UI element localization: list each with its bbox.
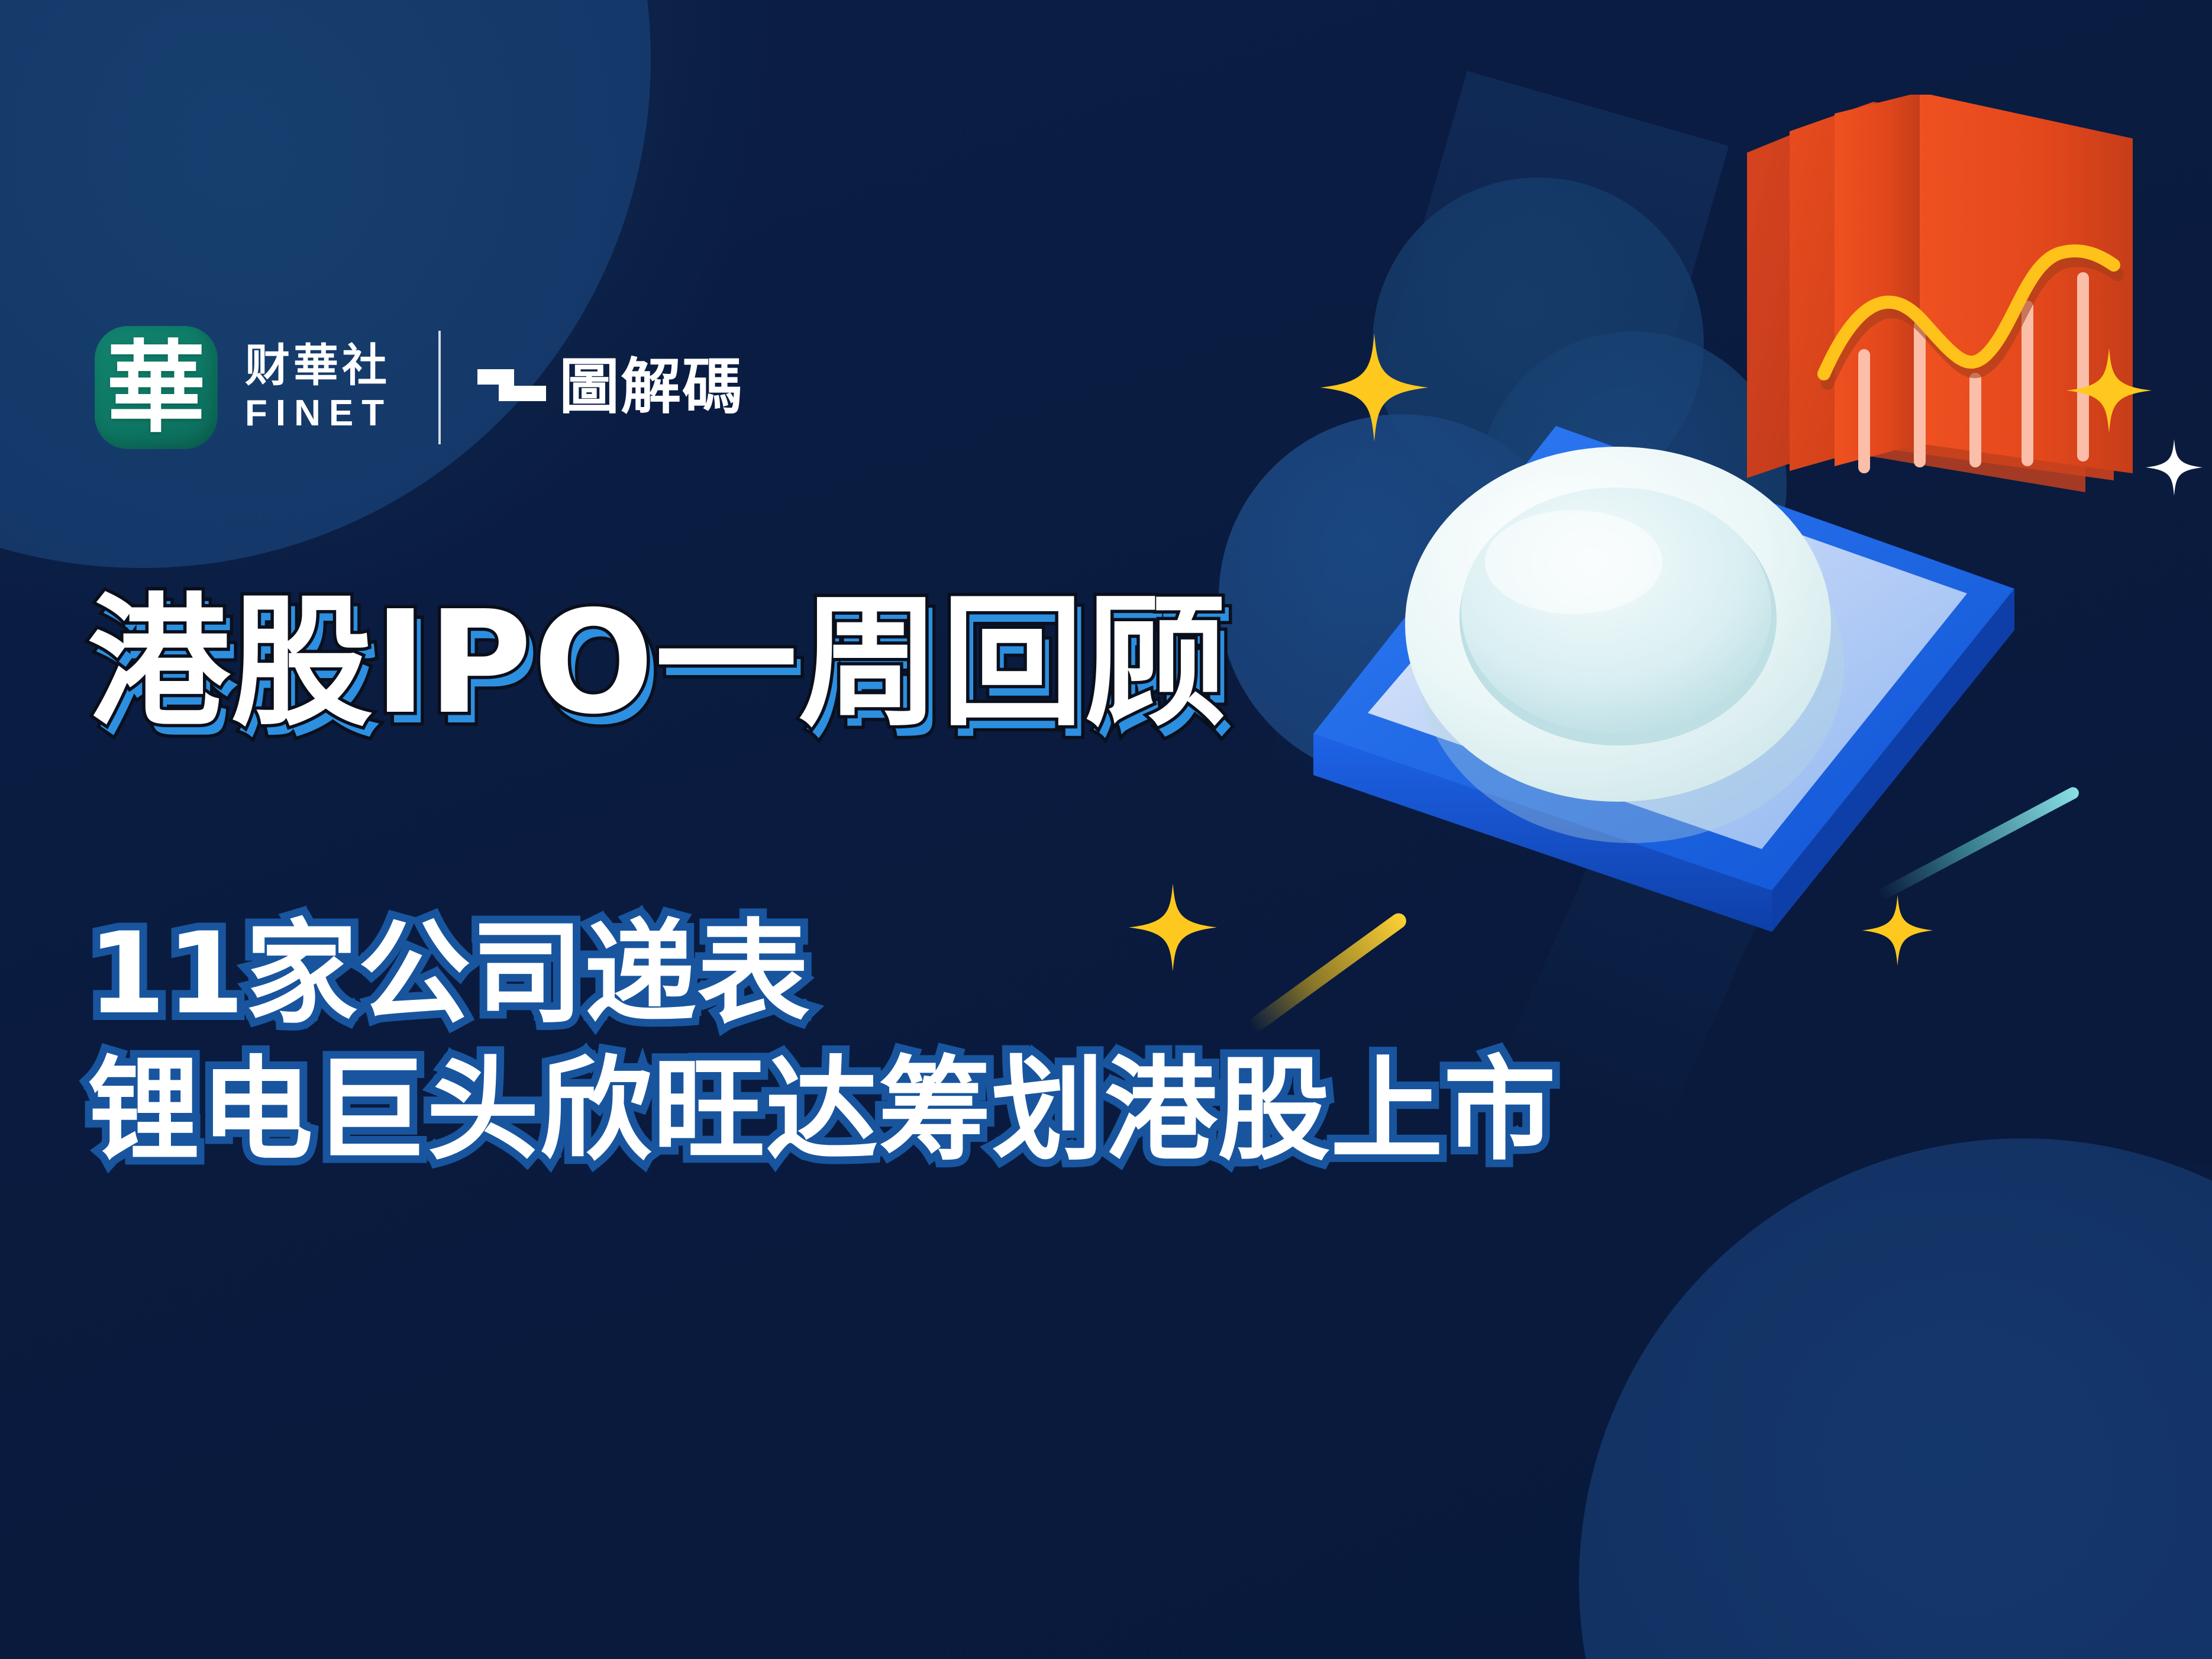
sparkle-yellow-upper-left xyxy=(1318,331,1430,444)
series-lockup: 圖解碼 xyxy=(477,357,744,418)
headline-block: 港股IPO一周回顾 港股IPO一周回顾 xyxy=(88,592,1803,734)
streak-cyan-right xyxy=(1877,785,2081,901)
subtitle-line-1: 11家公司递表 xyxy=(88,911,2099,1037)
finet-logo-mark: 華 xyxy=(95,326,218,449)
background-blob-bottom-right xyxy=(1579,1138,2212,1659)
logo-glyph: 華 xyxy=(95,326,218,449)
brand-name-block: 财華社 FINET xyxy=(245,343,392,432)
brand-header: 華 财華社 FINET 圖解碼 xyxy=(95,319,744,456)
background-blob-top-left xyxy=(0,0,651,568)
headline-title: 港股IPO一周回顾 xyxy=(88,592,1803,734)
subtitle-block: 11家公司递表 锂电巨头欣旺达筹划港股上市 xyxy=(88,911,2099,1174)
poster-canvas: 華 财華社 FINET 圖解碼 港股IPO一周回顾 港股IPO一周回顾 11家公… xyxy=(0,0,2212,1659)
sparkle-yellow-upper-right xyxy=(2065,346,2153,435)
background-blob-mid-b xyxy=(1373,177,1704,509)
series-label: 圖解碼 xyxy=(559,357,744,418)
chart-trend-line xyxy=(1827,260,2117,383)
brand-name-en: FINET xyxy=(245,395,392,432)
brand-divider xyxy=(438,331,441,444)
sparkle-white-right xyxy=(2145,438,2204,497)
red-chart-panels xyxy=(1719,95,2168,544)
background-light-ray-one xyxy=(1262,71,1729,863)
chart-bars xyxy=(1858,272,2089,473)
subtitle-line-2: 锂电巨头欣旺达筹划港股上市 xyxy=(88,1048,2099,1174)
step-bracket-icon xyxy=(477,364,546,411)
brand-name-cn: 财華社 xyxy=(245,343,392,388)
